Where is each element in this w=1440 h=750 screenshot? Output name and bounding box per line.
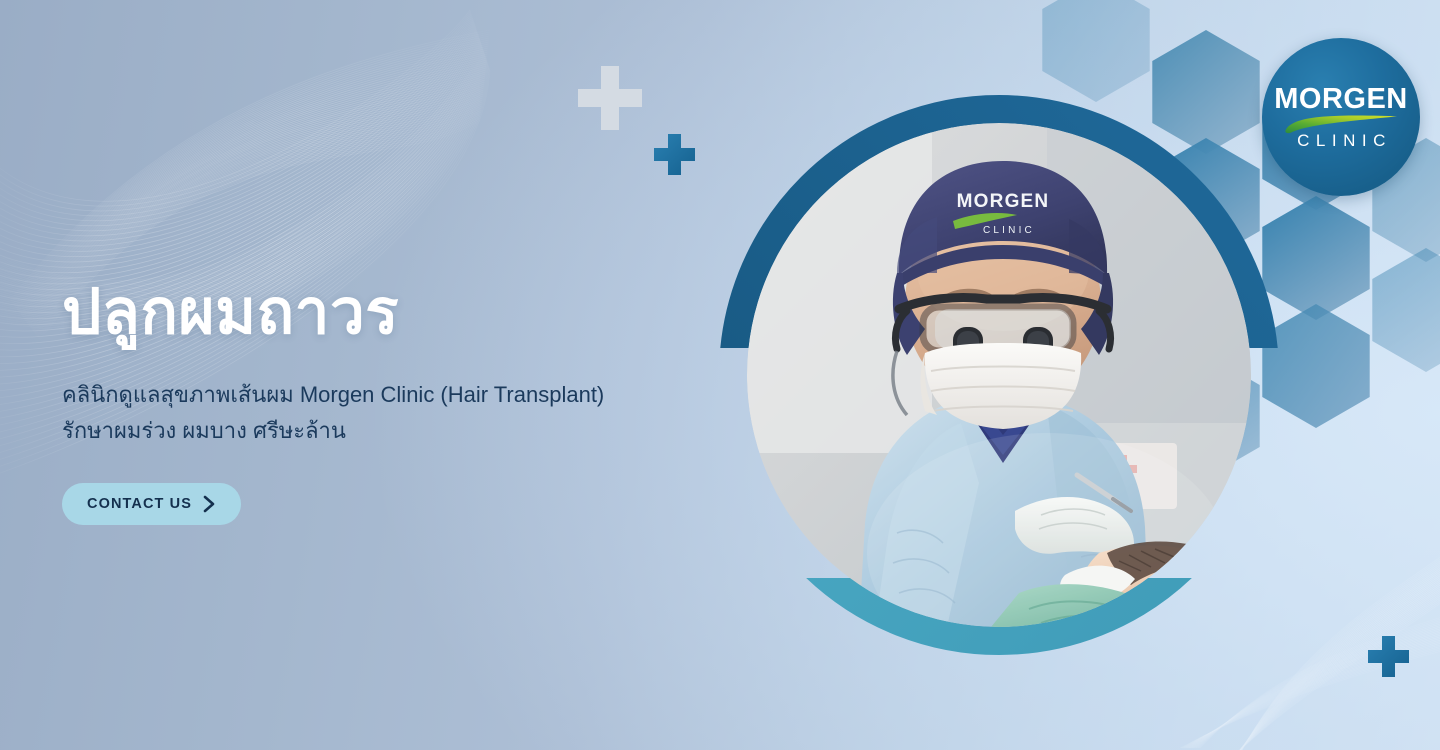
contact-us-label: CONTACT US (87, 496, 192, 512)
hero-copy-block: ปลูกผมถาวร คลินิกดูแลสุขภาพเส้นผม Morgen… (62, 278, 722, 525)
logo-wordmark: MORGEN (1274, 85, 1408, 114)
plus-cross-blue-bottom-icon (1366, 634, 1411, 679)
plus-cross-blue-top-icon (652, 132, 697, 177)
morgen-clinic-logo[interactable]: MORGEN CLINIC (1262, 38, 1420, 196)
hero-subtitle-line-1: คลินิกดูแลสุขภาพเส้นผม Morgen Clinic (Ha… (62, 377, 722, 413)
contact-us-button[interactable]: CONTACT US (62, 483, 241, 525)
cap-logo-clinic: CLINIC (983, 225, 1035, 236)
surgeon-photo: MORGEN CLINIC (747, 123, 1251, 627)
hero-subtitle-line-2: รักษาผมร่วง ผมบาง ศรีษะล้าน (62, 413, 722, 449)
logo-subtitle: CLINIC (1297, 132, 1392, 149)
plus-cross-light-icon (576, 64, 644, 132)
hero-subtitle: คลินิกดูแลสุขภาพเส้นผม Morgen Clinic (Ha… (62, 377, 722, 448)
hero-banner: MORGEN CLINIC (0, 0, 1440, 750)
chevron-right-icon (203, 495, 216, 513)
page-title: ปลูกผมถาวร (62, 278, 722, 347)
cap-logo-morgen: MORGEN (957, 191, 1050, 212)
